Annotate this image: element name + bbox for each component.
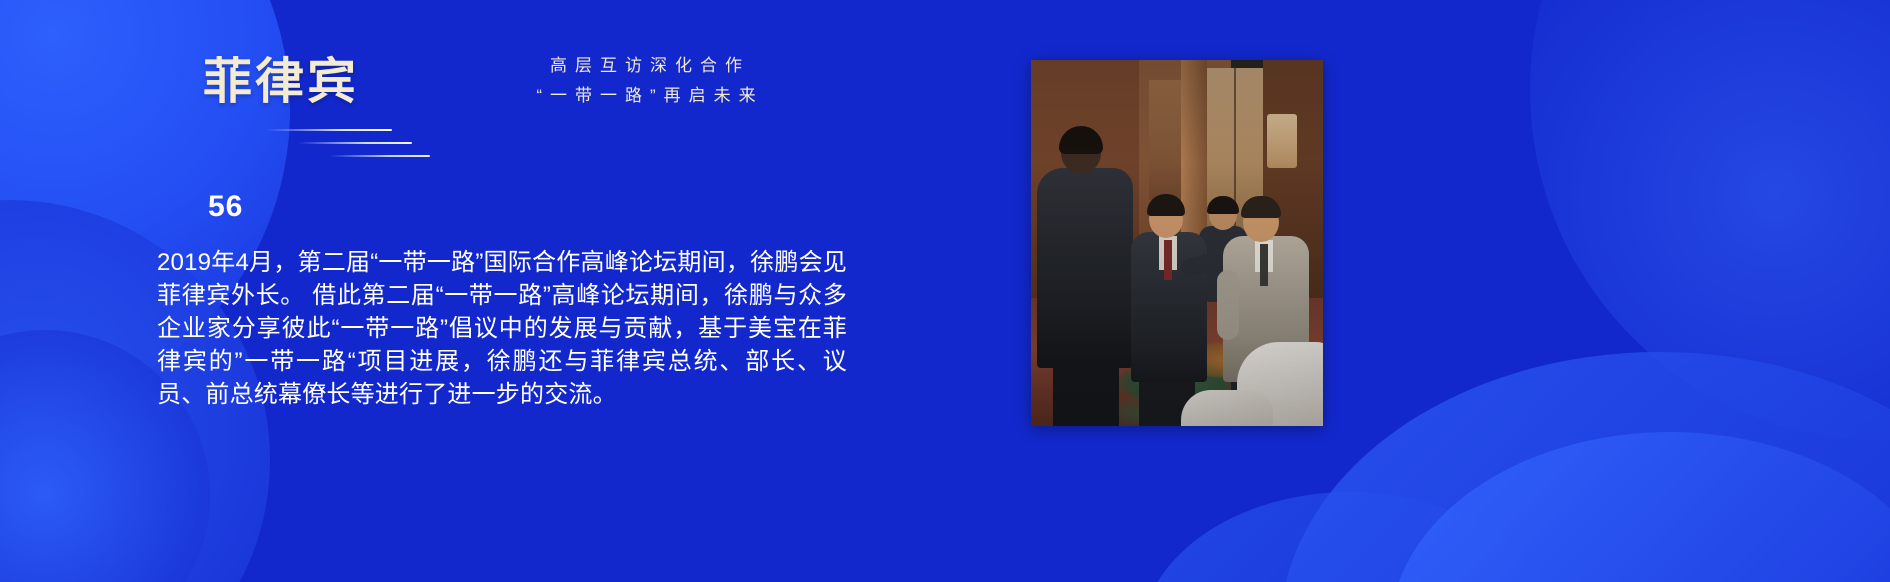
decorative-rule-3 <box>330 155 430 157</box>
photo-vignette <box>1031 60 1323 426</box>
slide-headline: 高层互访深化合作 “一带一路”再启未来 <box>440 52 860 110</box>
meeting-photo <box>1031 60 1323 426</box>
presentation-slide: 菲律宾 高层互访深化合作 “一带一路”再启未来 56 2019年4月，第二届“一… <box>0 0 1890 582</box>
body-paragraph: 2019年4月，第二届“一带一路”国际合作高峰论坛期间，徐鹏会见菲律宾外长。 借… <box>157 246 847 411</box>
decorative-rule-group <box>203 129 533 163</box>
headline-line-2: “一带一路”再启未来 <box>440 82 860 110</box>
item-number: 56 <box>208 190 243 224</box>
decorative-rule-1 <box>266 129 392 131</box>
decorative-rule-2 <box>298 142 412 144</box>
headline-line-1: 高层互访深化合作 <box>440 52 860 80</box>
